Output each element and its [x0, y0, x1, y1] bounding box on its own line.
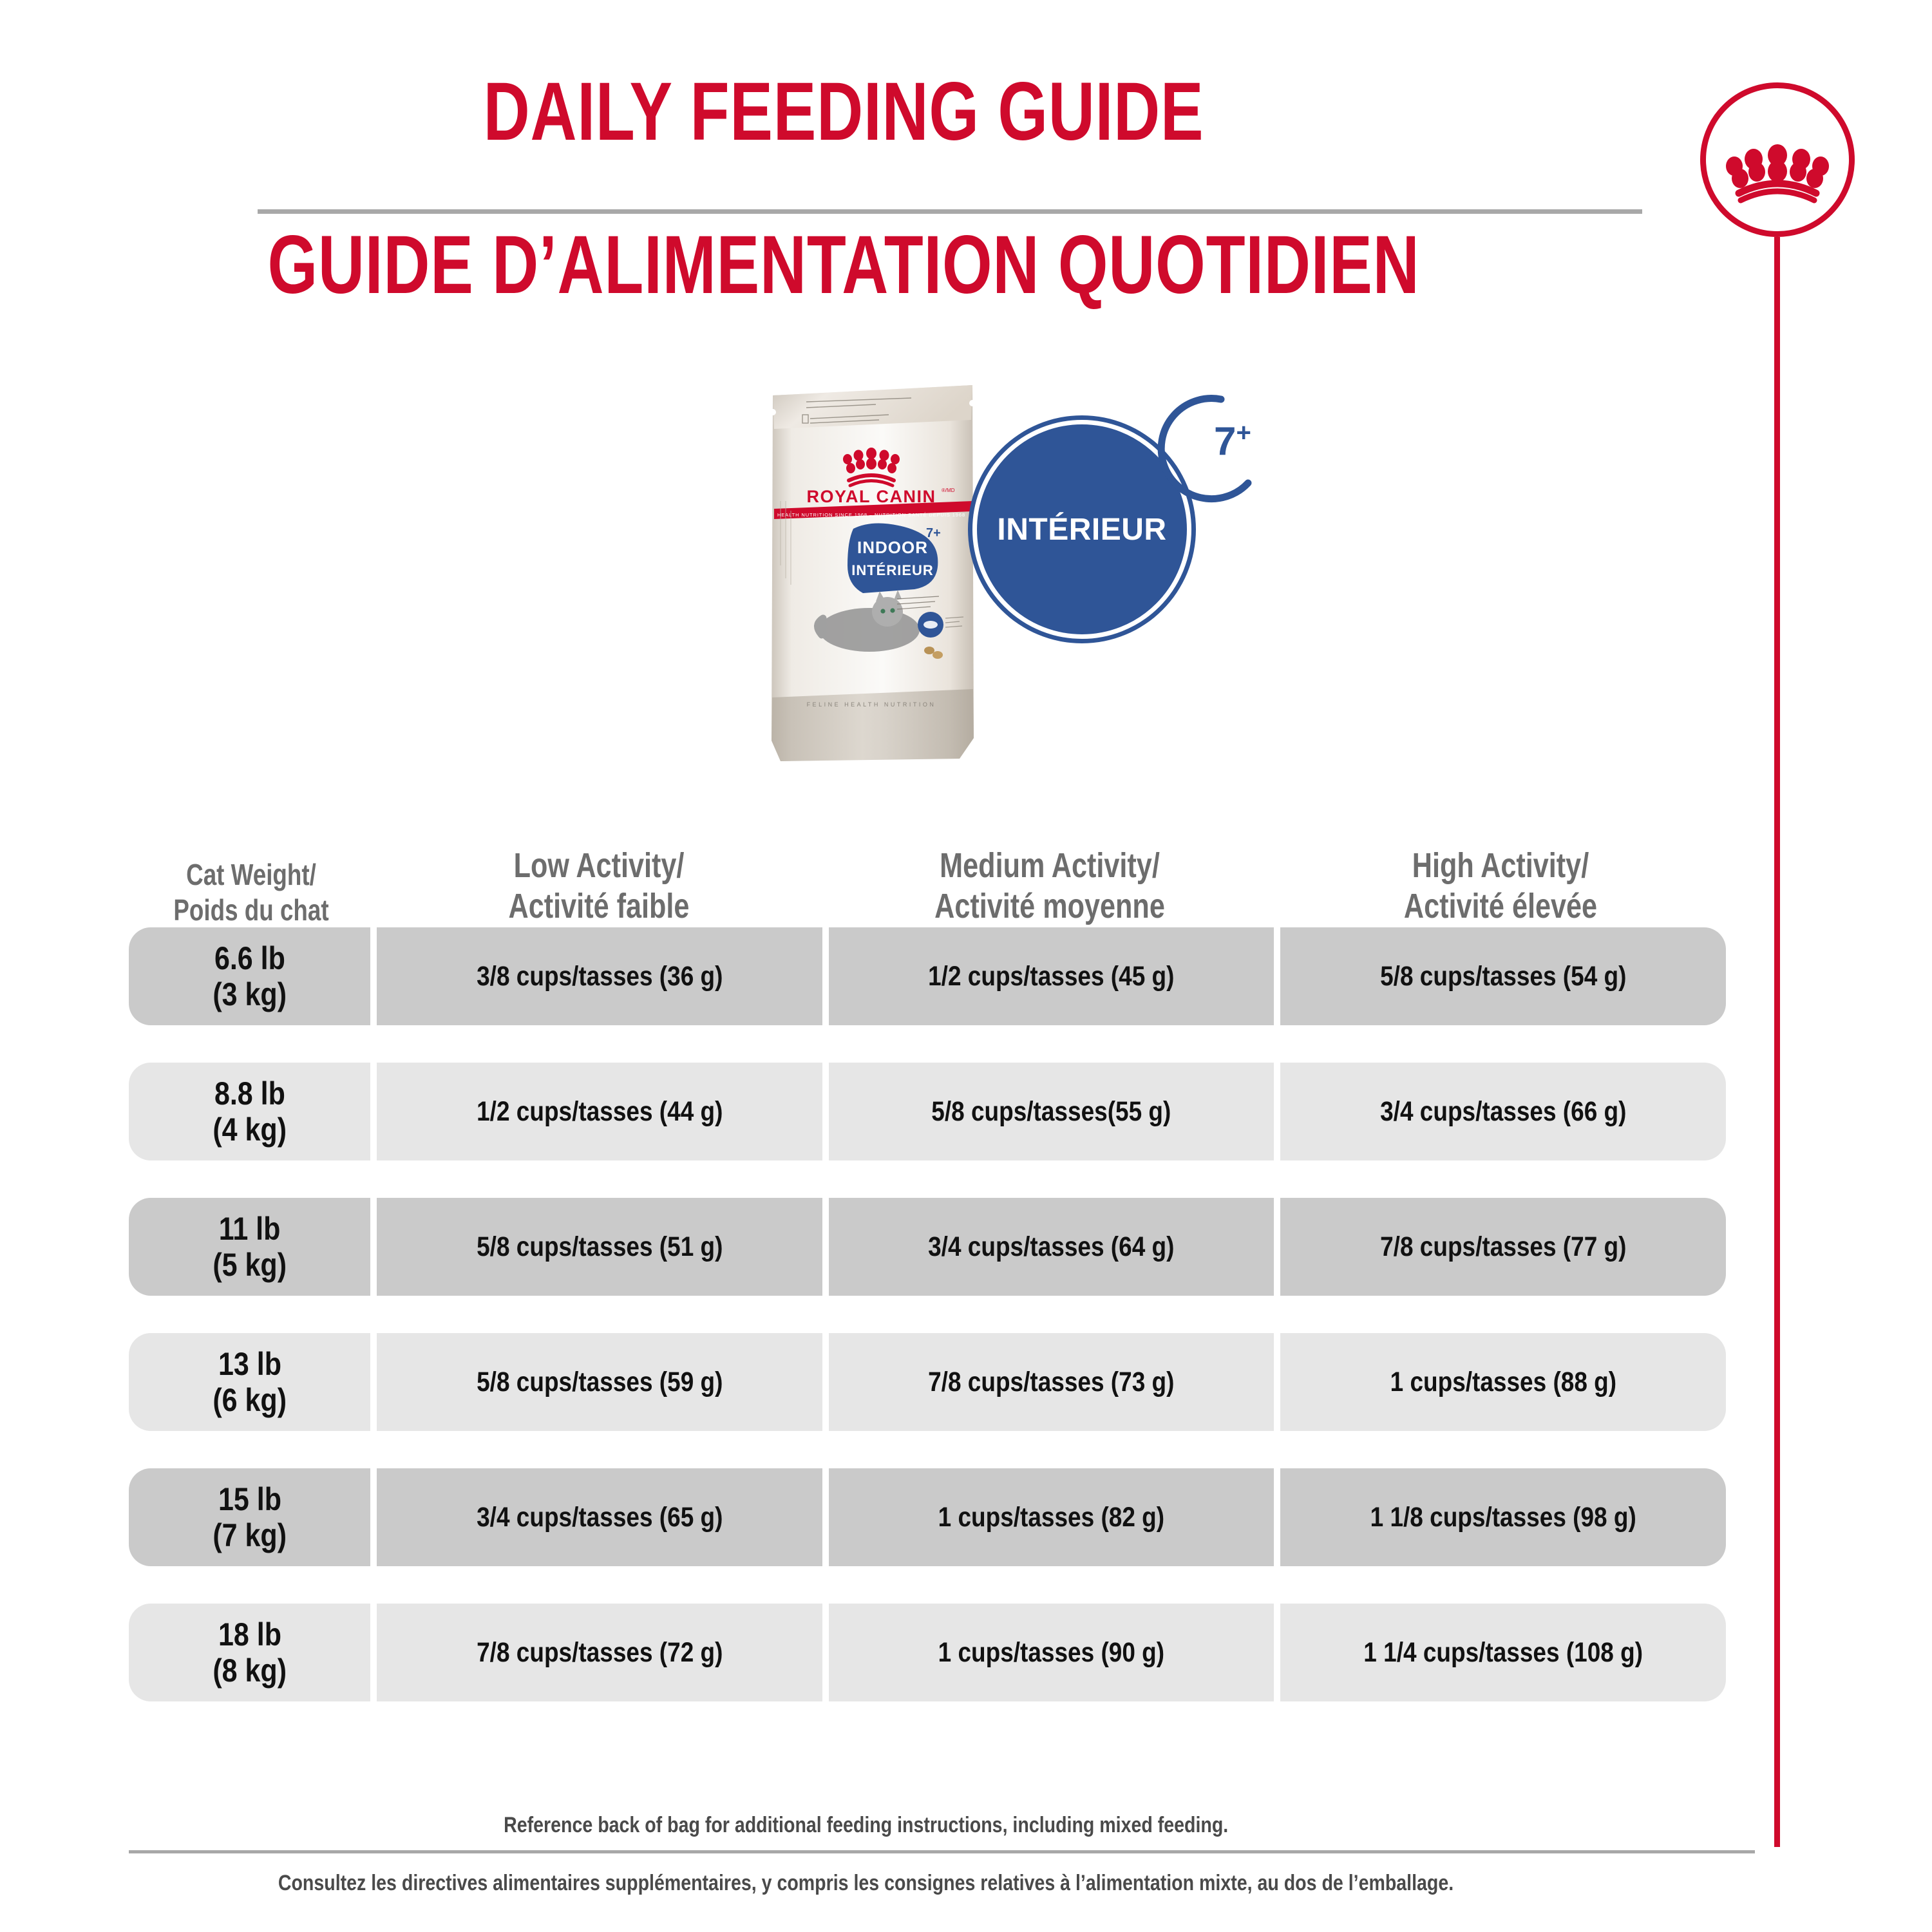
svg-text:FELINE HEALTH NUTRITION: FELINE HEALTH NUTRITION	[807, 701, 936, 708]
title-divider	[258, 209, 1642, 214]
feeding-table: Cat Weight/ Poids du chat Low Activity/ …	[129, 766, 1726, 1739]
svg-text:®/MD: ®/MD	[942, 488, 955, 493]
svg-text:INTÉRIEUR: INTÉRIEUR	[851, 562, 934, 578]
page-title-fr-wrap: GUIDE D’ALIMENTATION QUOTIDIEN	[0, 224, 1687, 307]
cell-medium-activity: 3/4 cups/tasses (64 g)	[829, 1198, 1274, 1296]
column-header-high-en: High Activity/	[1323, 846, 1678, 887]
cell-weight-kg: (7 kg)	[213, 1517, 287, 1553]
cell-medium-activity: 1 cups/tasses (90 g)	[829, 1604, 1274, 1701]
cell-weight: 18 lb (8 kg)	[129, 1604, 370, 1701]
cell-medium-activity: 1/2 cups/tasses (45 g)	[829, 927, 1274, 1025]
column-header-weight-en: Cat Weight/	[156, 857, 346, 892]
cell-medium-activity: 5/8 cups/tasses(55 g)	[829, 1063, 1274, 1160]
cell-high-activity: 5/8 cups/tasses (54 g)	[1280, 927, 1726, 1025]
column-header-high-fr: Activité élevée	[1323, 886, 1678, 927]
feeding-guide-page: DAILY FEEDING GUIDE GUIDE D’ALIMENTATION…	[0, 0, 1932, 1932]
range-badge-label: INTÉRIEUR	[997, 512, 1166, 547]
column-header-medium-activity: Medium Activity/ Activité moyenne	[824, 846, 1275, 927]
cell-low-activity: 5/8 cups/tasses (51 g)	[377, 1198, 822, 1296]
cell-low-activity: 1/2 cups/tasses (44 g)	[377, 1063, 822, 1160]
product-bag-icon: ROYAL CANIN ®/MD HEALTH NUTRITION SINCE …	[766, 372, 979, 765]
crown-ring	[1700, 82, 1855, 237]
cell-weight-lb: 6.6 lb	[214, 940, 285, 976]
cell-low-activity: 3/4 cups/tasses (65 g)	[377, 1468, 822, 1566]
cell-weight-kg: (4 kg)	[213, 1112, 287, 1148]
table-row: 18 lb (8 kg) 7/8 cups/tasses (72 g) 1 cu…	[129, 1604, 1726, 1701]
table-row: 13 lb (6 kg) 5/8 cups/tasses (59 g) 7/8 …	[129, 1333, 1726, 1431]
cell-weight: 11 lb (5 kg)	[129, 1198, 370, 1296]
cell-high-activity: 7/8 cups/tasses (77 g)	[1280, 1198, 1726, 1296]
table-header-row: Cat Weight/ Poids du chat Low Activity/ …	[129, 766, 1726, 927]
cell-weight-kg: (8 kg)	[213, 1653, 287, 1689]
cell-high-activity: 1 1/8 cups/tasses (98 g)	[1280, 1468, 1726, 1566]
cell-medium-activity: 1 cups/tasses (82 g)	[829, 1468, 1274, 1566]
column-header-weight: Cat Weight/ Poids du chat	[129, 857, 374, 927]
cell-high-activity: 1 1/4 cups/tasses (108 g)	[1280, 1604, 1726, 1701]
table-row: 11 lb (5 kg) 5/8 cups/tasses (51 g) 3/4 …	[129, 1198, 1726, 1296]
cell-weight: 8.8 lb (4 kg)	[129, 1063, 370, 1160]
table-row: 15 lb (7 kg) 3/4 cups/tasses (65 g) 1 cu…	[129, 1468, 1726, 1566]
royal-canin-crown-icon	[1700, 82, 1855, 237]
table-row: 6.6 lb (3 kg) 3/8 cups/tasses (36 g) 1/2…	[129, 927, 1726, 1025]
cell-low-activity: 3/8 cups/tasses (36 g)	[377, 927, 822, 1025]
page-title-fr: GUIDE D’ALIMENTATION QUOTIDIEN	[185, 224, 1502, 307]
brand-vertical-line	[1774, 237, 1780, 1847]
column-header-weight-fr: Poids du chat	[156, 893, 346, 927]
table-row: 8.8 lb (4 kg) 1/2 cups/tasses (44 g) 5/8…	[129, 1063, 1726, 1160]
footnote-fr: Consultez les directives alimentaires su…	[0, 1871, 1732, 1896]
cell-weight-lb: 11 lb	[219, 1211, 281, 1247]
column-header-medium-en: Medium Activity/	[873, 846, 1227, 887]
column-header-low-activity: Low Activity/ Activité faible	[374, 846, 824, 927]
column-header-low-fr: Activité faible	[422, 886, 776, 927]
cell-low-activity: 5/8 cups/tasses (59 g)	[377, 1333, 822, 1431]
cell-medium-activity: 7/8 cups/tasses (73 g)	[829, 1333, 1274, 1431]
cell-weight-lb: 15 lb	[218, 1481, 281, 1517]
cell-low-activity: 7/8 cups/tasses (72 g)	[377, 1604, 822, 1701]
cell-weight: 15 lb (7 kg)	[129, 1468, 370, 1566]
footnote-divider	[129, 1850, 1755, 1853]
svg-text:INDOOR: INDOOR	[857, 538, 928, 557]
cell-weight-lb: 8.8 lb	[214, 1075, 285, 1112]
column-header-high-activity: High Activity/ Activité élevée	[1275, 846, 1726, 927]
age-badge: 7+	[1214, 420, 1251, 462]
age-badge-plus: +	[1236, 419, 1251, 447]
column-header-low-en: Low Activity/	[422, 846, 776, 887]
product-image: ROYAL CANIN ®/MD HEALTH NUTRITION SINCE …	[741, 361, 1359, 773]
svg-text:7+: 7+	[926, 526, 941, 540]
cell-high-activity: 1 cups/tasses (88 g)	[1280, 1333, 1726, 1431]
cell-weight-lb: 18 lb	[218, 1616, 281, 1653]
age-badge-number: 7	[1214, 420, 1236, 464]
svg-text:HEALTH NUTRITION SINCE 1968 –: HEALTH NUTRITION SINCE 1968 – NUTRITION …	[777, 512, 965, 518]
cell-weight-kg: (6 kg)	[213, 1382, 287, 1418]
cell-weight: 13 lb (6 kg)	[129, 1333, 370, 1431]
cell-high-activity: 3/4 cups/tasses (66 g)	[1280, 1063, 1726, 1160]
cell-weight: 6.6 lb (3 kg)	[129, 927, 370, 1025]
column-header-medium-fr: Activité moyenne	[873, 886, 1227, 927]
cell-weight-kg: (5 kg)	[213, 1247, 287, 1283]
page-title: DAILY FEEDING GUIDE	[0, 71, 1687, 153]
cell-weight-kg: (3 kg)	[213, 976, 287, 1012]
cell-weight-lb: 13 lb	[218, 1346, 281, 1382]
page-title-en: DAILY FEEDING GUIDE	[185, 71, 1502, 153]
footnote-en: Reference back of bag for additional fee…	[0, 1813, 1732, 1838]
